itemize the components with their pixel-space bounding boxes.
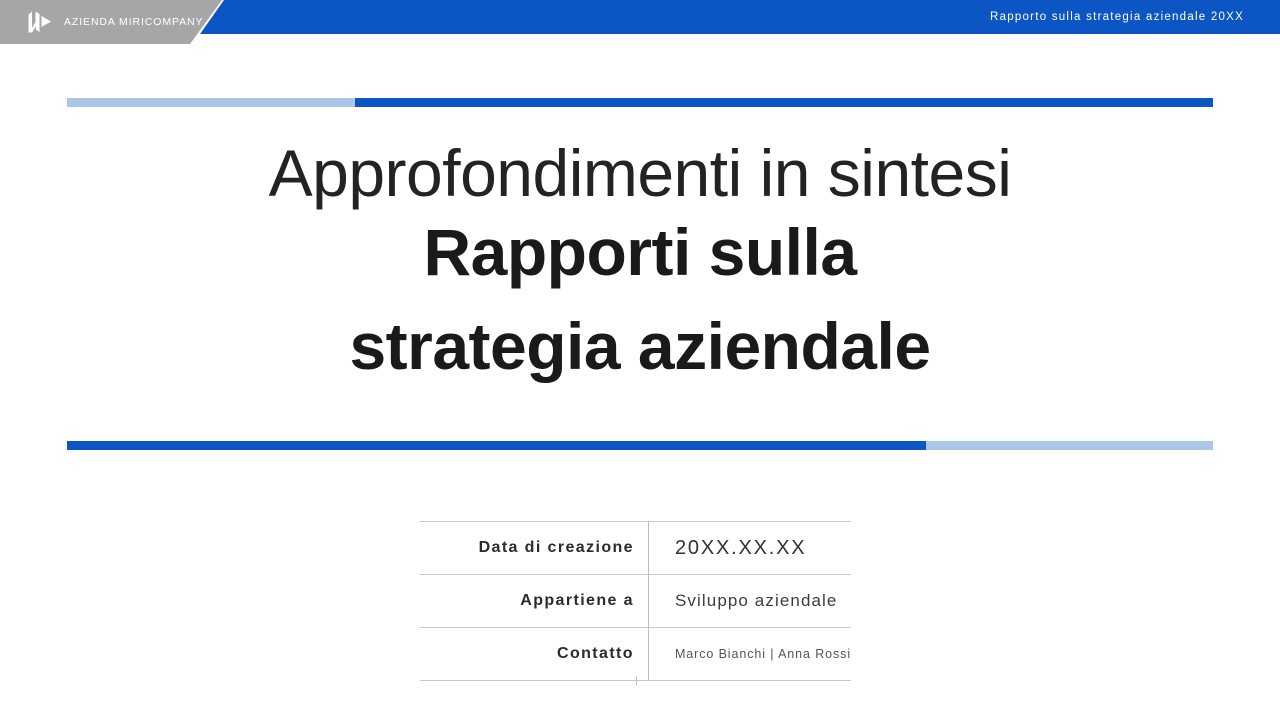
document-meta-table: Data di creazione 20XX.XX.XX Appartiene … (420, 521, 851, 681)
meta-value-contact: Marco Bianchi | Anna Rossi (648, 628, 851, 681)
company-name-label: AZIENDA MIRICOMPANY (64, 16, 203, 28)
meta-label-contact: Contatto (420, 628, 648, 681)
bottom-rule-dark-segment (67, 441, 926, 450)
table-row: Contatto Marco Bianchi | Anna Rossi (420, 628, 851, 681)
meta-label-belongs-to: Appartiene a (420, 575, 648, 628)
top-rule-light-segment (67, 98, 355, 107)
header-report-title: Rapporto sulla strategia aziendale 20XX (990, 11, 1244, 23)
table-divider-tail (636, 676, 637, 685)
table-row: Appartiene a Sviluppo aziendale (420, 575, 851, 628)
top-accent-rule (67, 98, 1213, 107)
bottom-rule-light-segment (926, 441, 1213, 450)
meta-label-creation-date: Data di creazione (420, 522, 648, 575)
header-company-band: AZIENDA MIRICOMPANY (0, 0, 222, 44)
title-block: Approfondimenti in sintesi Rapporti sull… (0, 140, 1280, 393)
header-title-band: Rapporto sulla strategia aziendale 20XX (200, 0, 1280, 34)
meta-value-creation-date: 20XX.XX.XX (648, 522, 851, 575)
bottom-accent-rule (67, 441, 1213, 450)
miricompany-logo-icon (26, 10, 54, 34)
page-subtitle: Approfondimenti in sintesi (0, 140, 1280, 206)
slide-header: AZIENDA MIRICOMPANY Rapporto sulla strat… (0, 0, 1280, 48)
page-title: Rapporti sulla strategia aziendale (290, 206, 990, 393)
meta-value-belongs-to: Sviluppo aziendale (648, 575, 851, 628)
table-row: Data di creazione 20XX.XX.XX (420, 522, 851, 575)
top-rule-dark-segment (355, 98, 1213, 107)
